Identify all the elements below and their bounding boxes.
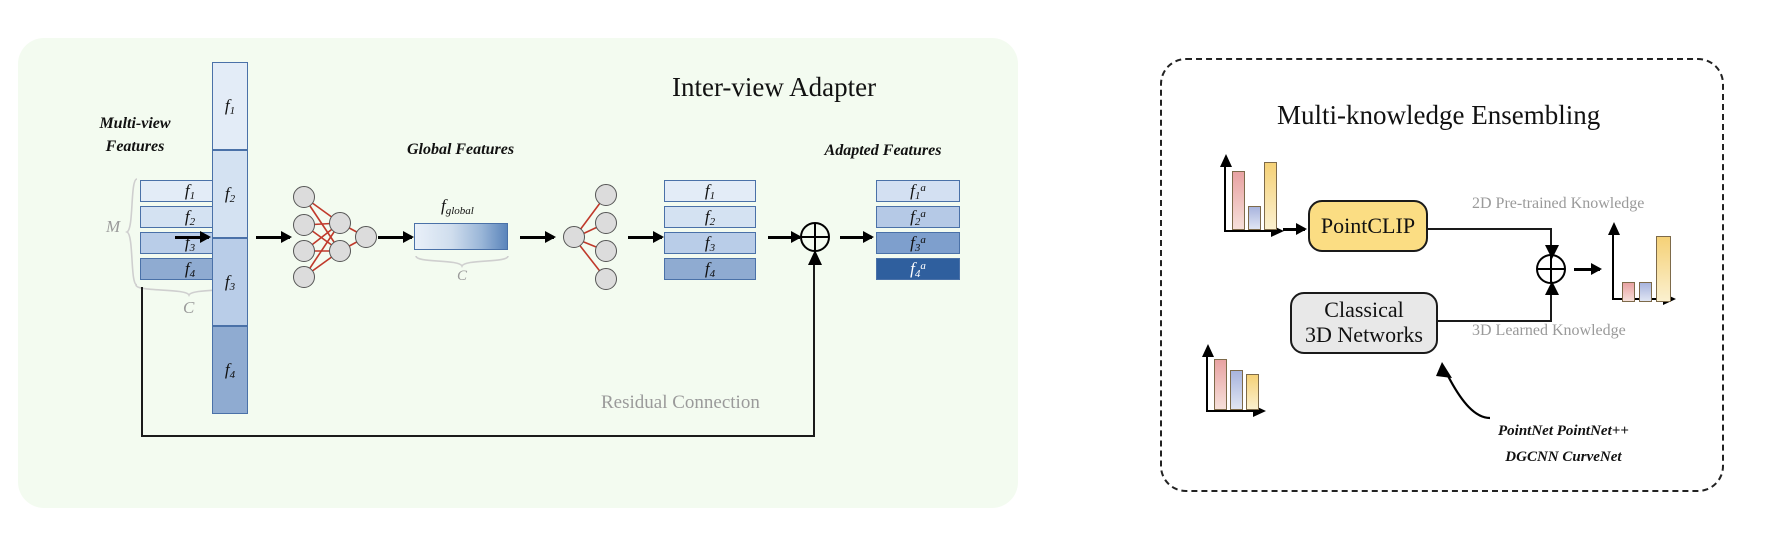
label-2d-pretrained-knowledge: 2D Pre-trained Knowledge xyxy=(1472,195,1644,213)
decoder-output-node-4 xyxy=(595,268,617,290)
residual-line-vertical-left xyxy=(141,287,143,437)
brace-global-C-icon xyxy=(414,254,510,268)
arrow-concat-to-mlp-icon xyxy=(256,236,290,239)
mlp-hidden-node-2 xyxy=(329,240,351,262)
decoder-input-node xyxy=(563,226,585,248)
decoder-output-node-1 xyxy=(595,184,617,206)
pointclip-input-histogram xyxy=(1218,160,1284,242)
concat-column-segment-3[interactable]: f3 xyxy=(212,238,248,326)
edge-pointclip-horizontal xyxy=(1428,228,1552,230)
mlp-hidden-node-1 xyxy=(329,212,351,234)
residual-arrowhead-icon xyxy=(806,250,824,266)
mlp-output-node xyxy=(355,226,377,248)
intermediate-feature-block-2[interactable]: f2 xyxy=(664,206,756,228)
adapted-feature-block-1[interactable]: f1a xyxy=(876,180,960,202)
dim-label-M: M xyxy=(106,217,120,237)
mlp-input-node-3 xyxy=(293,240,315,262)
concat-column-segment-2[interactable]: f2 xyxy=(212,150,248,238)
intermediate-feature-block-1[interactable]: f1 xyxy=(664,180,756,202)
page-title-multi-knowledge: Multi-knowledge Ensembling xyxy=(1277,100,1600,131)
arrow-ensemble-to-output-icon xyxy=(1574,268,1600,271)
edge-classical-vertical xyxy=(1550,292,1552,322)
pointclip-box[interactable]: PointCLIP xyxy=(1308,200,1428,252)
mlp-input-node-1 xyxy=(293,186,315,208)
adapted-feature-block-4[interactable]: f4a xyxy=(876,258,960,280)
residual-line-vertical-right xyxy=(813,262,815,437)
decoder-output-node-3 xyxy=(595,240,617,262)
curved-arrow-to-classical-icon xyxy=(1428,358,1498,424)
label-3d-learned-knowledge: 3D Learned Knowledge xyxy=(1472,322,1626,340)
dim-label-global-C: C xyxy=(457,268,467,285)
concat-column-segment-4[interactable]: f4 xyxy=(212,326,248,414)
adapted-feature-block-3[interactable]: f3a xyxy=(876,232,960,254)
arrow-to-pointclip-icon xyxy=(1283,228,1305,231)
caption-adapted-features: Adapted Features xyxy=(813,142,953,160)
residual-add-operator-icon xyxy=(800,222,830,252)
classical-input-histogram xyxy=(1200,350,1266,432)
arrow-decoder-to-intermediate-icon xyxy=(628,236,662,239)
classical-3d-networks-box[interactable]: Classical 3D Networks xyxy=(1290,292,1438,354)
caption-global-features: Global Features xyxy=(398,141,523,159)
page-title-inter-view-adapter: Inter-view Adapter xyxy=(672,72,876,103)
network-names-list: PointNet PointNet++ DGCNN CurveNet xyxy=(1498,418,1629,471)
adapted-feature-block-2[interactable]: f2a xyxy=(876,206,960,228)
arrow-add-to-adapted-icon xyxy=(840,236,872,239)
label-f-global: fglobal xyxy=(441,196,474,217)
arrow-input-to-concat-icon xyxy=(175,236,209,239)
edge-classical-horizontal xyxy=(1438,320,1552,322)
mlp-input-node-2 xyxy=(293,214,315,236)
arrow-intermediate-to-add-icon xyxy=(768,236,800,239)
ensemble-add-operator-icon xyxy=(1536,254,1566,284)
intermediate-feature-block-3[interactable]: f3 xyxy=(664,232,756,254)
brace-M-icon xyxy=(125,177,139,287)
residual-line-horizontal xyxy=(141,435,815,437)
dim-label-C: C xyxy=(183,298,194,318)
global-feature-bar[interactable] xyxy=(414,223,508,250)
ensembled-output-histogram xyxy=(1606,228,1680,314)
decoder-output-node-2 xyxy=(595,212,617,234)
residual-connection-label: Residual Connection xyxy=(601,392,760,414)
arrow-global-to-decoder-icon xyxy=(520,236,554,239)
concat-column-segment-1[interactable]: f1 xyxy=(212,62,248,150)
mlp-input-node-4 xyxy=(293,266,315,288)
caption-multi-view-features: Multi-view Features xyxy=(70,112,200,158)
arrow-mlp-to-global-icon xyxy=(378,236,412,239)
intermediate-feature-block-4[interactable]: f4 xyxy=(664,258,756,280)
